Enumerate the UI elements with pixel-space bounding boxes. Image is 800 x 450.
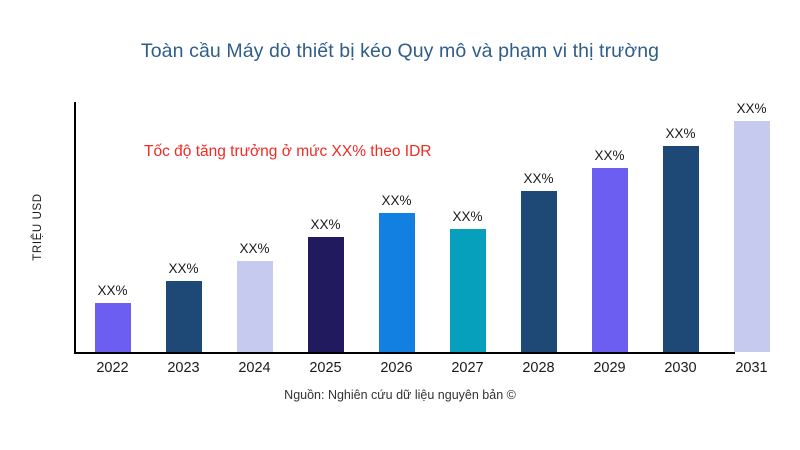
source-note: Nguồn: Nghiên cứu dữ liệu nguyên bản ©	[0, 388, 800, 402]
x-tick-label-2027: 2027	[451, 360, 483, 376]
bar-2024[interactable]	[237, 261, 273, 352]
chart-title: Toàn cầu Máy dò thiết bị kéo Quy mô và p…	[0, 40, 800, 63]
x-tick-label-2029: 2029	[593, 360, 625, 376]
bar-group-2030: XX%2030	[645, 102, 716, 352]
chart-container: Toàn cầu Máy dò thiết bị kéo Quy mô và p…	[0, 0, 800, 450]
x-tick-label-2026: 2026	[380, 360, 412, 376]
bar-value-label-2025: XX%	[310, 217, 340, 232]
bar-group-2027: XX%2027	[432, 102, 503, 352]
bar-value-label-2031: XX%	[736, 101, 766, 116]
x-tick-label-2028: 2028	[522, 360, 554, 376]
bar-2028[interactable]	[521, 191, 557, 352]
x-tick-label-2030: 2030	[664, 360, 696, 376]
bar-2026[interactable]	[379, 213, 415, 352]
bar-value-label-2023: XX%	[168, 261, 198, 276]
bar-2025[interactable]	[308, 237, 344, 352]
y-axis-title: TRIỆU USD	[32, 147, 44, 307]
bar-group-2022: XX%2022	[77, 102, 148, 352]
bar-2027[interactable]	[450, 229, 486, 352]
bar-value-label-2029: XX%	[594, 148, 624, 163]
bar-2029[interactable]	[592, 168, 628, 352]
x-tick-label-2031: 2031	[735, 360, 767, 376]
bar-group-2025: XX%2025	[290, 102, 361, 352]
bar-group-2023: XX%2023	[148, 102, 219, 352]
bar-2023[interactable]	[166, 281, 202, 352]
x-tick-label-2024: 2024	[238, 360, 270, 376]
bar-value-label-2028: XX%	[523, 171, 553, 186]
bar-value-label-2024: XX%	[239, 241, 269, 256]
x-tick-label-2025: 2025	[309, 360, 341, 376]
x-axis-line	[74, 352, 735, 354]
bar-value-label-2022: XX%	[97, 283, 127, 298]
bar-group-2031: XX%2031	[716, 102, 787, 352]
bar-group-2026: XX%2026	[361, 102, 432, 352]
bar-group-2028: XX%2028	[503, 102, 574, 352]
bar-2022[interactable]	[95, 303, 131, 352]
bar-2031[interactable]	[734, 121, 770, 352]
bars-layer: XX%2022XX%2023XX%2024XX%2025XX%2026XX%20…	[74, 102, 786, 352]
bar-value-label-2027: XX%	[452, 209, 482, 224]
bar-value-label-2026: XX%	[381, 193, 411, 208]
bar-group-2024: XX%2024	[219, 102, 290, 352]
bar-value-label-2030: XX%	[665, 126, 695, 141]
plot-area: TRIỆU USD Tốc độ tăng trưởng ở mức XX% t…	[74, 102, 786, 352]
x-tick-label-2022: 2022	[96, 360, 128, 376]
bar-2030[interactable]	[663, 146, 699, 352]
bar-group-2029: XX%2029	[574, 102, 645, 352]
x-tick-label-2023: 2023	[167, 360, 199, 376]
